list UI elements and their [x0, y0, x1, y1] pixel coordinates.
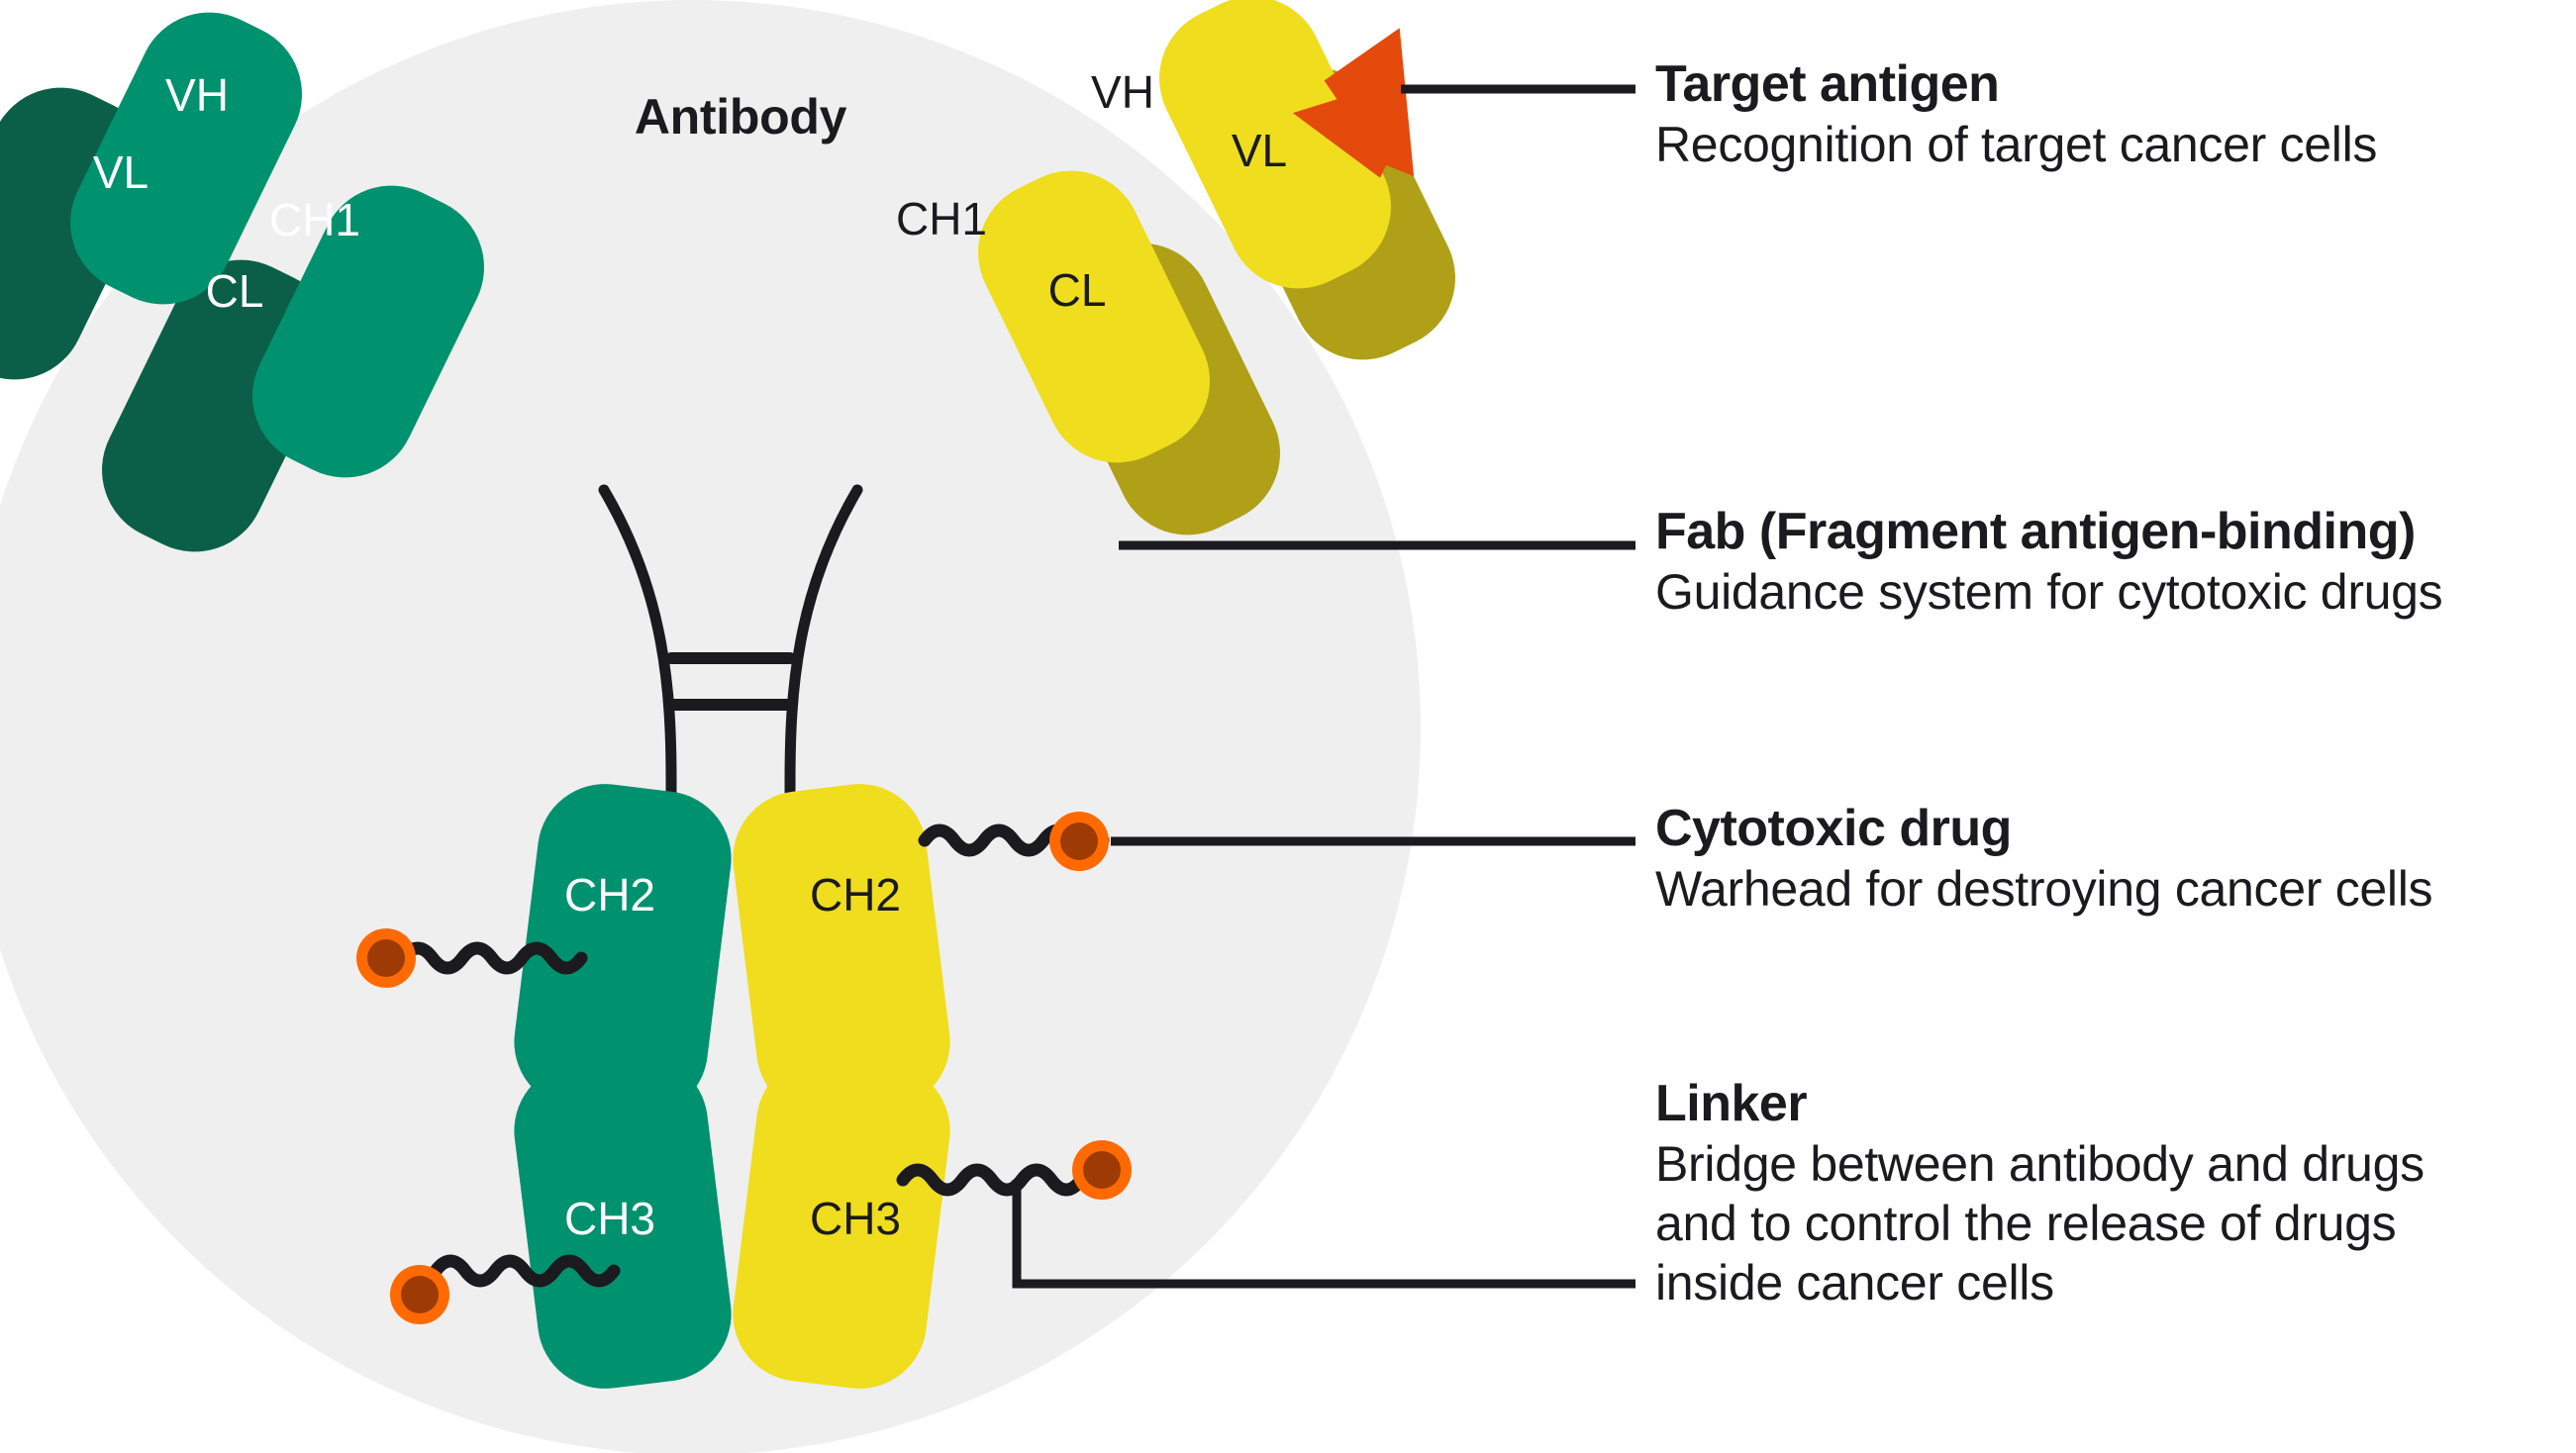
- callout-title-cytotoxic-drug: Cytotoxic drug: [1655, 798, 2546, 859]
- callout-title-fab: Fab (Fragment antigen-binding): [1655, 501, 2546, 562]
- callout-description-cytotoxic-drug: Warhead for destroying cancer cells: [1655, 859, 2546, 919]
- callout-desc-line: and to control the release of drugs: [1655, 1194, 2546, 1253]
- label-left-vh: VH: [165, 69, 229, 121]
- callout-linker[interactable]: Linker Bridge between antibody and drugs…: [1655, 1073, 2546, 1312]
- callout-description-fab: Guidance system for cytotoxic drugs: [1655, 562, 2546, 622]
- label-left-ch3: CH3: [564, 1193, 655, 1244]
- drug-icon-left-ch2: [356, 928, 416, 988]
- antibody-title: Antibody: [635, 89, 847, 145]
- diagram-canvas: VL VH CH1 CL VH VL CH1 CL CH2 C: [0, 0, 2576, 1453]
- drug-icon-right-ch3: [1072, 1140, 1132, 1200]
- label-right-ch2: CH2: [810, 869, 901, 920]
- label-right-cl: CL: [1048, 264, 1107, 316]
- callout-title-target-antigen: Target antigen: [1655, 53, 2546, 115]
- label-left-ch1: CH1: [269, 194, 360, 245]
- label-right-ch1: CH1: [896, 193, 987, 244]
- callout-description-linker: Bridge between antibody and drugs and to…: [1655, 1134, 2546, 1312]
- drug-icon-left-ch3: [390, 1265, 449, 1324]
- callout-desc-line: Bridge between antibody and drugs: [1655, 1134, 2546, 1194]
- callout-cytotoxic-drug[interactable]: Cytotoxic drug Warhead for destroying ca…: [1655, 798, 2546, 919]
- drug-icon-right-ch2: [1049, 812, 1109, 871]
- callout-title-linker: Linker: [1655, 1073, 2546, 1134]
- callout-desc-line: Guidance system for cytotoxic drugs: [1655, 562, 2546, 622]
- callout-desc-line: Warhead for destroying cancer cells: [1655, 859, 2546, 919]
- label-left-cl: CL: [206, 265, 264, 317]
- callout-desc-line: Recognition of target cancer cells: [1655, 115, 2546, 174]
- label-right-vh: VH: [1091, 66, 1154, 118]
- callout-desc-line: inside cancer cells: [1655, 1253, 2546, 1312]
- label-right-ch3: CH3: [810, 1193, 901, 1244]
- callout-target-antigen[interactable]: Target antigen Recognition of target can…: [1655, 53, 2546, 174]
- label-left-vl: VL: [93, 146, 149, 198]
- label-right-vl: VL: [1232, 125, 1287, 176]
- label-left-ch2: CH2: [564, 869, 655, 920]
- callout-description-target-antigen: Recognition of target cancer cells: [1655, 115, 2546, 174]
- callout-fab[interactable]: Fab (Fragment antigen-binding) Guidance …: [1655, 501, 2546, 622]
